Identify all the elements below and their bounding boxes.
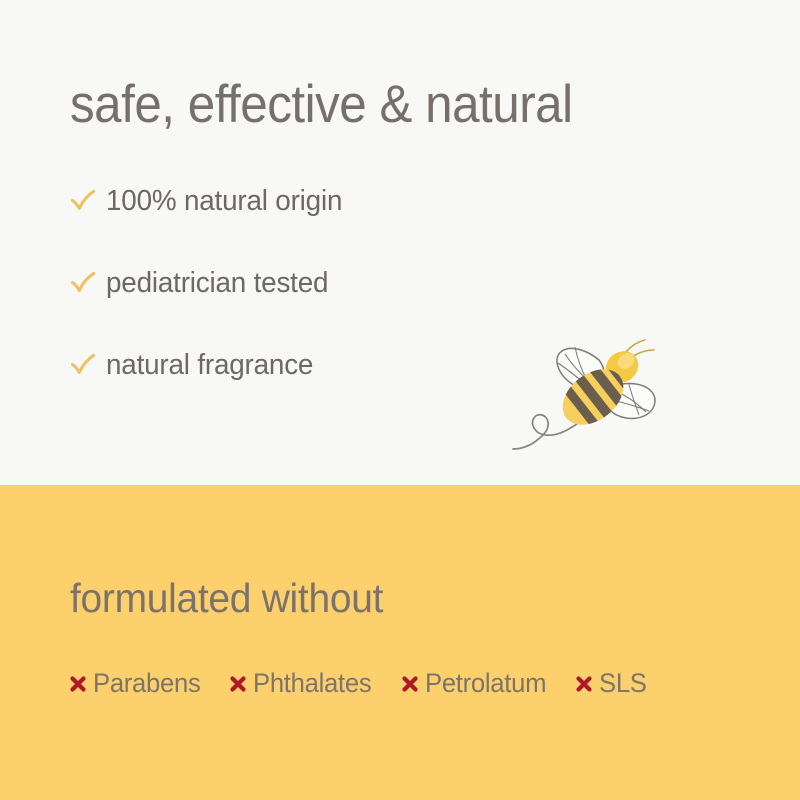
check-icon [68, 350, 98, 380]
list-item-label: pediatrician tested [106, 267, 328, 300]
page-title: safe, effective & natural [70, 78, 573, 131]
list-item-label: Parabens [93, 668, 201, 699]
close-icon [400, 674, 420, 694]
list-item: Parabens [68, 668, 206, 699]
list-item: 100% natural origin [68, 176, 588, 226]
list-item: Petrolatum [400, 668, 553, 699]
section-title: formulated without [70, 575, 383, 622]
list-item-label: natural fragrance [106, 349, 313, 382]
close-icon [68, 674, 88, 694]
bee-illustration [505, 325, 680, 455]
list-item: pediatrician tested [68, 258, 588, 308]
list-item: SLS [574, 668, 649, 699]
check-icon [68, 268, 98, 298]
list-item: Phthalates [228, 668, 378, 699]
list-item-label: Petrolatum [425, 668, 546, 699]
list-item-label: Phthalates [253, 668, 371, 699]
check-icon [68, 186, 98, 216]
product-claims-graphic: safe, effective & natural 100% natural o… [0, 0, 800, 800]
list-item-label: 100% natural origin [106, 185, 342, 218]
benefits-panel: safe, effective & natural 100% natural o… [0, 0, 800, 485]
exclusions-list: Parabens Phthalates Petrolatum [68, 668, 649, 699]
list-item-label: SLS [599, 668, 647, 699]
exclusions-panel: formulated without Parabens Phthala [0, 485, 800, 800]
close-icon [574, 674, 594, 694]
close-icon [228, 674, 248, 694]
